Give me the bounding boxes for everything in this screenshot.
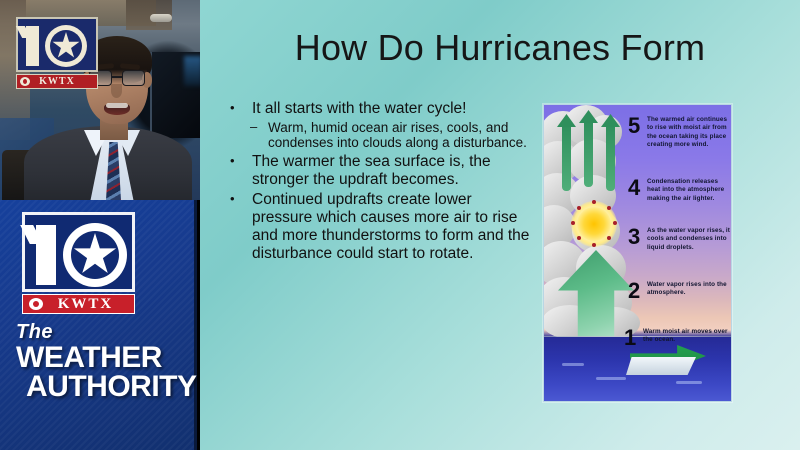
station-logo-box — [16, 17, 98, 72]
updraft-arrow — [562, 123, 571, 191]
bullet-marker: • — [230, 191, 252, 263]
page-title: How Do Hurricanes Form — [200, 27, 800, 69]
updraft-arrow — [584, 119, 593, 187]
step-text: Condensation releases heat into the atmo… — [647, 178, 732, 203]
bullet-marker: – — [250, 120, 268, 151]
list-item: • Continued updrafts create lower pressu… — [230, 191, 530, 263]
bullet-marker: • — [230, 153, 252, 189]
brand-line-weather: WEATHER — [16, 343, 196, 372]
station-logo-overlay: KWTX — [16, 17, 98, 89]
cbs-eye-icon — [20, 77, 30, 86]
condensation-sun-icon — [571, 201, 617, 247]
sun-dot — [592, 200, 596, 204]
step-text: The warmed air continues to rise with mo… — [647, 116, 732, 149]
ocean-surface-slab — [626, 357, 696, 375]
list-item-text: The warmer the sea surface is, the stron… — [252, 153, 530, 189]
left-panel: KWTX KWTX The WEATHER AUTHORITY — [0, 0, 200, 450]
step-text: Water vapor rises into the atmosphere. — [647, 281, 732, 298]
step-number: 2 — [628, 281, 647, 301]
wave — [562, 363, 584, 366]
lens-bridge — [112, 76, 122, 78]
anchor-video-feed: KWTX — [0, 0, 200, 200]
diagram-step-5: 5 The warmed air continues to rise with … — [628, 116, 732, 149]
step-number: 3 — [628, 227, 647, 247]
diagram-step-3: 3 As the water vapor rises, it cools and… — [628, 227, 732, 252]
list-item-text: It all starts with the water cycle! — [252, 100, 467, 118]
brand-wordmark: The WEATHER AUTHORITY — [16, 322, 196, 402]
anchor-nose — [111, 84, 122, 98]
logo-digit-one — [36, 225, 56, 285]
list-item: • The warmer the sea surface is, the str… — [230, 153, 530, 189]
ceiling-lamp-icon — [150, 14, 172, 22]
weather-authority-brand-panel: KWTX The WEATHER AUTHORITY — [0, 200, 197, 450]
presentation-slide: How Do Hurricanes Form • It all starts w… — [200, 0, 800, 450]
logo-box — [22, 212, 135, 292]
broadcast-screen: KWTX KWTX The WEATHER AUTHORITY — [0, 0, 800, 450]
wave — [676, 381, 702, 384]
step-number: 4 — [628, 178, 647, 198]
lens-right — [122, 70, 145, 86]
bullet-marker: • — [230, 100, 252, 118]
cbs-eye-icon — [29, 298, 43, 310]
kwtx-10-logo: KWTX — [22, 212, 135, 312]
step-number: 5 — [628, 116, 647, 136]
logo-digit-one — [26, 26, 39, 66]
diagram-step-4: 4 Condensation releases heat into the at… — [628, 178, 732, 203]
diagram-step-1: 1 Warm moist air moves over the ocean. — [624, 328, 729, 348]
list-item: • It all starts with the water cycle! — [230, 100, 530, 118]
diagram-step-2: 2 Water vapor rises into the atmosphere. — [628, 281, 732, 301]
step-text: Warm moist air moves over the ocean. — [643, 328, 729, 345]
sun-dot — [577, 206, 581, 210]
sun-dot — [607, 206, 611, 210]
sun-dot — [592, 243, 596, 247]
bullet-list: • It all starts with the water cycle! – … — [230, 100, 530, 265]
sun-dot — [577, 236, 581, 240]
brand-line-authority: AUTHORITY — [26, 372, 196, 401]
step-number: 1 — [624, 328, 643, 348]
wave — [596, 377, 626, 380]
updraft-arrow — [606, 123, 615, 191]
sun-dot — [607, 236, 611, 240]
list-item: – Warm, humid ocean air rises, cools, an… — [250, 120, 530, 151]
list-item-text: Continued updrafts create lower pressure… — [252, 191, 530, 263]
list-item-text: Warm, humid ocean air rises, cools, and … — [268, 120, 530, 151]
brand-line-the: The — [16, 322, 196, 342]
anchor-teeth — [106, 103, 128, 108]
step-text: As the water vapor rises, it cools and c… — [647, 227, 732, 252]
sun-core — [577, 207, 611, 241]
sun-dot — [571, 221, 575, 225]
hurricane-formation-diagram: 5 The warmed air continues to rise with … — [543, 104, 732, 402]
monitor-glow — [184, 56, 200, 86]
sun-dot — [613, 221, 617, 225]
